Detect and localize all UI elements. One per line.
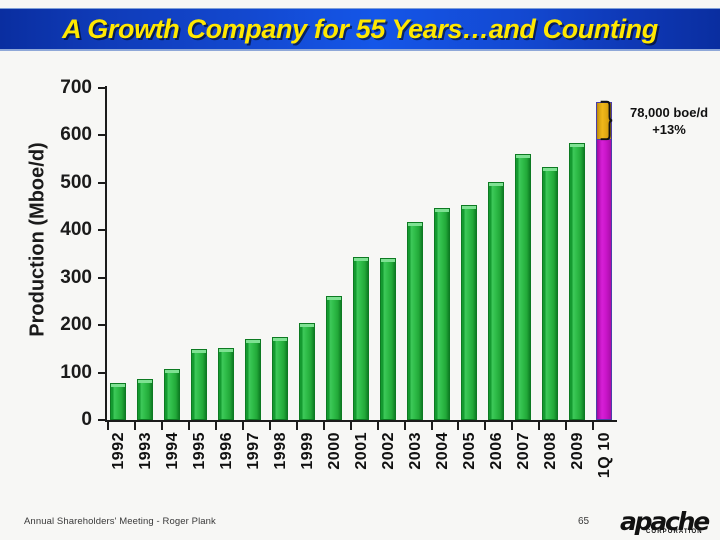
x-label-1992: 1992: [110, 432, 128, 470]
bar-segment-production: [164, 369, 180, 420]
x-label-2005: 2005: [461, 432, 479, 470]
bar-segment-production: [380, 258, 396, 420]
bar-segment-production: [461, 205, 477, 420]
x-tick-2002: [377, 422, 379, 430]
y-tick-label: 0: [32, 409, 92, 431]
y-tick-label: 600: [32, 124, 92, 146]
bar-1992: [110, 88, 126, 420]
x-label-1998: 1998: [272, 432, 290, 470]
bar-1995: [191, 88, 207, 420]
x-label-1995: 1995: [191, 432, 209, 470]
bar-segment-production: [191, 349, 207, 420]
bar-segment-production: [110, 383, 126, 420]
apache-logo-subtitle: CORPORATION: [646, 529, 703, 535]
x-tick-1Q 10: [592, 422, 594, 430]
y-tick-400: [98, 229, 106, 231]
bar-segment-production: [434, 208, 450, 420]
x-label-2000: 2000: [326, 432, 344, 470]
y-tick-600: [98, 134, 106, 136]
y-tick-700: [98, 87, 106, 89]
bar-segment-production: [272, 337, 288, 420]
y-tick-500: [98, 182, 106, 184]
page-number: 65: [578, 516, 589, 527]
bar-1993: [137, 88, 153, 420]
x-label-1999: 1999: [299, 432, 317, 470]
bar-2000: [326, 88, 342, 420]
y-tick-label: 700: [32, 77, 92, 99]
x-tick-2009: [565, 422, 567, 430]
bar-2007: [515, 88, 531, 420]
callout-line-percent: +13%: [620, 121, 718, 138]
page-title: A Growth Company for 55 Years…and Counti…: [62, 14, 658, 45]
x-label-1997: 1997: [245, 432, 263, 470]
x-tick-1996: [215, 422, 217, 430]
x-tick-1997: [242, 422, 244, 430]
y-tick-label: 300: [32, 267, 92, 289]
x-tick-2006: [484, 422, 486, 430]
x-tick-2003: [404, 422, 406, 430]
bar-2008: [542, 88, 558, 420]
bar-2002: [380, 88, 396, 420]
bar-segment-production: [596, 139, 612, 420]
x-tick-2007: [511, 422, 513, 430]
bar-segment-production: [488, 182, 504, 420]
x-tick-2005: [457, 422, 459, 430]
x-tick-2008: [538, 422, 540, 430]
x-label-1996: 1996: [218, 432, 236, 470]
bar-1998: [272, 88, 288, 420]
bar-1994: [164, 88, 180, 420]
bar-segment-production: [299, 323, 315, 420]
bar-segment-production: [515, 154, 531, 420]
bar-1999: [299, 88, 315, 420]
bar-segment-production: [245, 339, 261, 420]
bar-2001: [353, 88, 369, 420]
x-label-2006: 2006: [488, 432, 506, 470]
x-label-2007: 2007: [515, 432, 533, 470]
bar-2005: [461, 88, 477, 420]
x-tick-1992: [107, 422, 109, 430]
y-tick-0: [98, 419, 106, 421]
x-axis-line: [105, 420, 617, 422]
bar-1996: [218, 88, 234, 420]
growth-callout: 78,000 boe/d +13%: [598, 100, 720, 160]
x-tick-2001: [350, 422, 352, 430]
x-label-2001: 2001: [353, 432, 371, 470]
x-label-2008: 2008: [542, 432, 560, 470]
bar-segment-production: [218, 348, 234, 420]
y-tick-label: 400: [32, 219, 92, 241]
bar-segment-production: [407, 222, 423, 420]
callout-line-volume: 78,000 boe/d: [620, 104, 718, 121]
y-tick-label: 500: [32, 172, 92, 194]
slide-title-banner: A Growth Company for 55 Years…and Counti…: [0, 8, 720, 51]
y-tick-200: [98, 324, 106, 326]
slide-footer: Annual Shareholders' Meeting - Roger Pla…: [0, 505, 720, 540]
x-tick-1995: [188, 422, 190, 430]
x-tick-1993: [134, 422, 136, 430]
x-label-1993: 1993: [137, 432, 155, 470]
footer-note: Annual Shareholders' Meeting - Roger Pla…: [24, 516, 216, 527]
apache-logo: apache CORPORATION: [620, 508, 716, 538]
x-label-1994: 1994: [164, 432, 182, 470]
y-tick-label: 200: [32, 314, 92, 336]
production-bar-chart: Production (Mboe/d) 01002003004005006007…: [0, 60, 720, 500]
callout-text-block: 78,000 boe/d +13%: [620, 104, 718, 138]
x-tick-2000: [323, 422, 325, 430]
bar-segment-production: [353, 257, 369, 420]
curly-brace-icon: [598, 100, 614, 141]
x-label-2002: 2002: [380, 432, 398, 470]
y-tick-100: [98, 372, 106, 374]
bar-segment-production: [326, 296, 342, 420]
x-tick-1998: [269, 422, 271, 430]
bar-2004: [434, 88, 450, 420]
bar-segment-production: [542, 167, 558, 420]
bar-2009: [569, 88, 585, 420]
x-label-2004: 2004: [434, 432, 452, 470]
bar-1997: [245, 88, 261, 420]
x-tick-1999: [296, 422, 298, 430]
x-tick-1994: [161, 422, 163, 430]
x-tick-2004: [431, 422, 433, 430]
bar-segment-production: [569, 143, 585, 420]
y-tick-300: [98, 277, 106, 279]
bar-segment-production: [137, 379, 153, 420]
bar-2006: [488, 88, 504, 420]
x-label-2009: 2009: [569, 432, 587, 470]
x-label-2003: 2003: [407, 432, 425, 470]
bar-2003: [407, 88, 423, 420]
x-label-1Q-10: 1Q 10: [596, 432, 614, 478]
y-tick-label: 100: [32, 362, 92, 384]
